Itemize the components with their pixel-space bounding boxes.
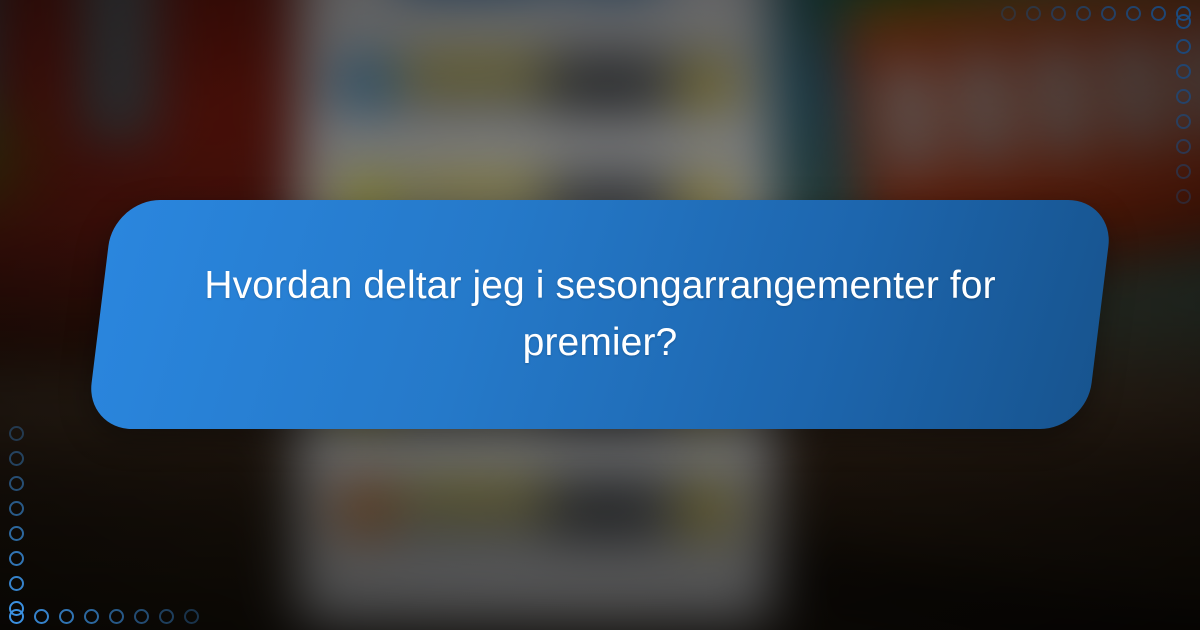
- circle-outline-icon: [1176, 6, 1191, 21]
- circle-outline-icon: [1176, 39, 1191, 54]
- circle-outline-icon: [1001, 6, 1016, 21]
- circle-outline-icon: [1176, 89, 1191, 104]
- question-banner: Hvordan deltar jeg i sesongarrangementer…: [100, 200, 1100, 429]
- circle-outline-icon: [1176, 114, 1191, 129]
- circle-outline-icon: [34, 609, 49, 624]
- circle-outline-icon: [1076, 6, 1091, 21]
- circle-outline-icon: [9, 426, 24, 441]
- circle-outline-icon: [9, 551, 24, 566]
- screenshot-canvas: Hvordan deltar jeg i sesongarrangementer…: [0, 0, 1200, 630]
- circle-outline-icon: [1176, 139, 1191, 154]
- circle-outline-icon: [9, 609, 24, 624]
- circle-outline-icon: [184, 609, 199, 624]
- circle-outline-icon: [9, 476, 24, 491]
- circle-outline-icon: [84, 609, 99, 624]
- circle-outline-icon: [9, 451, 24, 466]
- circle-outline-icon: [1126, 6, 1141, 21]
- circle-outline-icon: [134, 609, 149, 624]
- circle-outline-icon: [9, 526, 24, 541]
- circle-outline-icon: [9, 576, 24, 591]
- circle-outline-icon: [1101, 6, 1116, 21]
- circle-outline-icon: [1026, 6, 1041, 21]
- circle-outline-icon: [59, 609, 74, 624]
- decoration-dots-top-right-column: [1171, 14, 1191, 214]
- circle-outline-icon: [1151, 6, 1166, 21]
- decoration-dots-top-right-row: [991, 6, 1191, 26]
- circle-outline-icon: [1051, 6, 1066, 21]
- circle-outline-icon: [1176, 64, 1191, 79]
- question-banner-text: Hvordan deltar jeg i sesongarrangementer…: [100, 200, 1100, 429]
- circle-outline-icon: [1176, 164, 1191, 179]
- decoration-dots-bottom-left-column: [9, 416, 29, 616]
- circle-outline-icon: [109, 609, 124, 624]
- decoration-dots-bottom-left-row: [9, 604, 209, 624]
- circle-outline-icon: [159, 609, 174, 624]
- circle-outline-icon: [9, 501, 24, 516]
- circle-outline-icon: [1176, 189, 1191, 204]
